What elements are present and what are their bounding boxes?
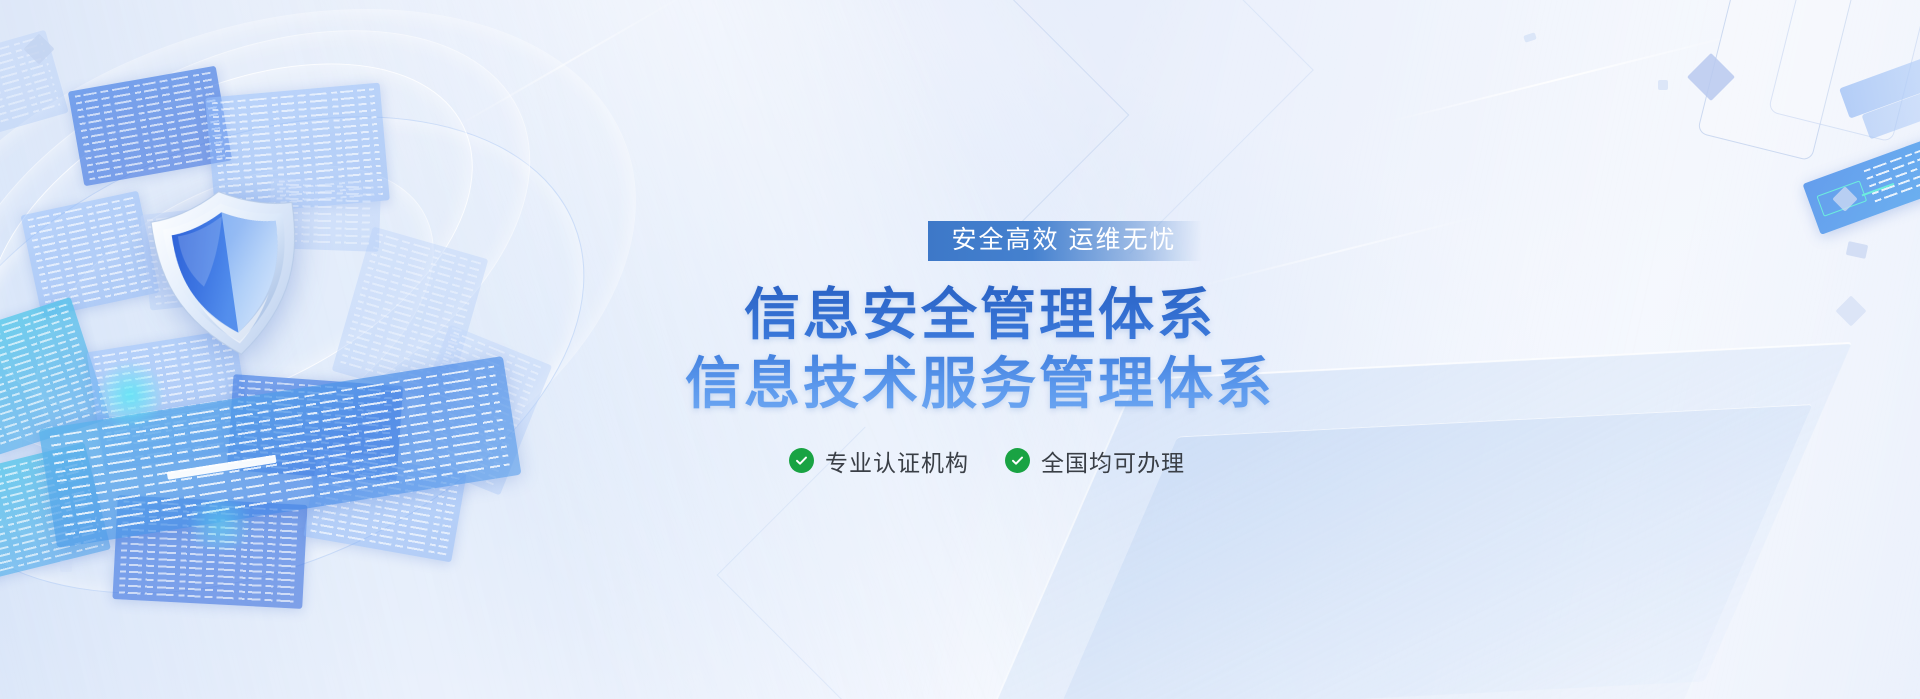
feature-item-0: 专业认证机构 [789, 444, 969, 478]
check-circle-icon [789, 448, 814, 473]
feature-label: 全国均可办理 [1041, 444, 1185, 478]
hero-banner: 安全高效 运维无忧 信息安全管理体系 信息技术服务管理体系 专业认证机构 [0, 0, 1920, 699]
tagline-badge: 安全高效 运维无忧 [928, 221, 1203, 261]
headline-line-1: 信息安全管理体系 [685, 281, 1275, 349]
feature-item-1: 全国均可办理 [1005, 444, 1185, 478]
page-title: 信息安全管理体系 信息技术服务管理体系 [685, 281, 1275, 418]
feature-list: 专业认证机构 全国均可办理 [789, 444, 1185, 478]
banner-content: 安全高效 运维无忧 信息安全管理体系 信息技术服务管理体系 专业认证机构 [0, 0, 1920, 699]
check-circle-icon [1005, 448, 1030, 473]
headline-line-2: 信息技术服务管理体系 [685, 350, 1275, 418]
feature-label: 专业认证机构 [825, 444, 969, 478]
